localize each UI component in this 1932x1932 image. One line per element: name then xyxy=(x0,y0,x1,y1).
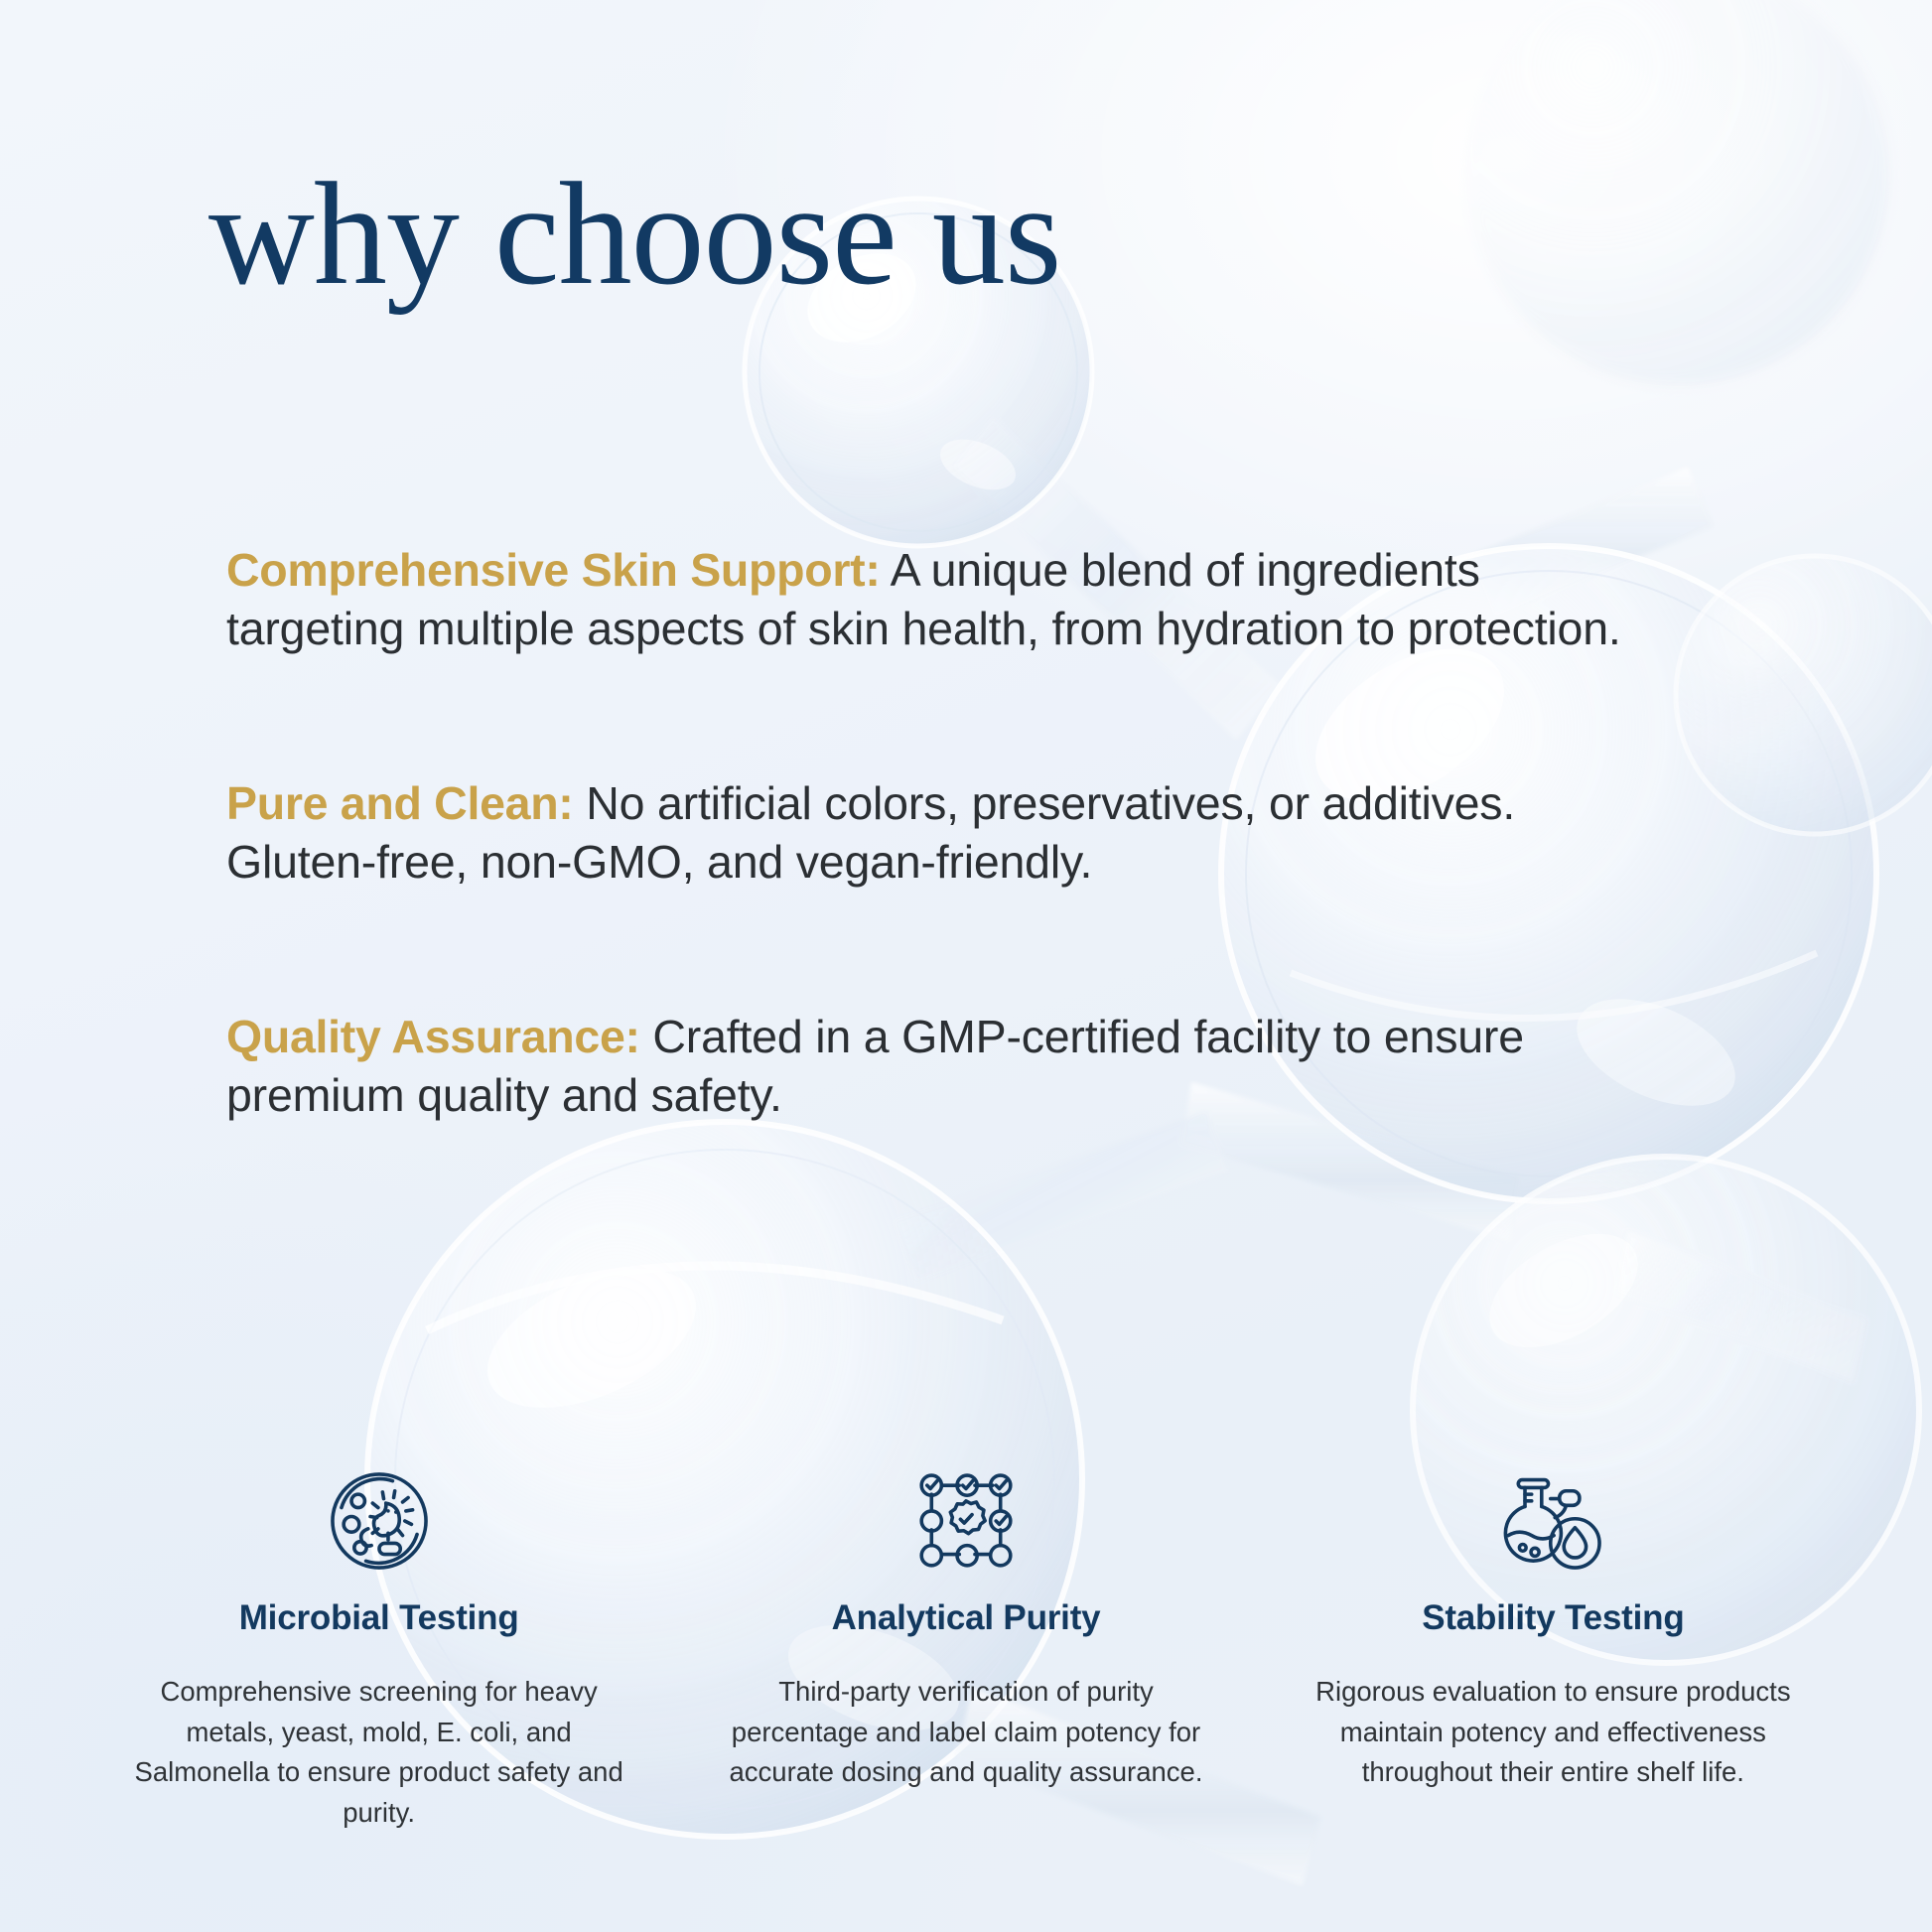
features-list: Comprehensive Skin Support: A unique ble… xyxy=(226,541,1626,1124)
badge-title: Stability Testing xyxy=(1422,1598,1684,1638)
certification-badges: Microbial Testing Comprehensive screenin… xyxy=(85,1465,1847,1833)
feature-item: Pure and Clean: No artificial colors, pr… xyxy=(226,774,1626,891)
page-content: why choose us Comprehensive Skin Support… xyxy=(0,0,1932,1932)
feature-lead: Quality Assurance: xyxy=(226,1011,640,1062)
badge-microbial-testing: Microbial Testing Comprehensive screenin… xyxy=(85,1465,672,1833)
page-title: why choose us xyxy=(208,161,1060,308)
feature-lead: Comprehensive Skin Support: xyxy=(226,544,881,596)
badge-description: Rigorous evaluation to ensure products m… xyxy=(1305,1672,1801,1792)
badge-description: Comprehensive screening for heavy metals… xyxy=(131,1672,627,1833)
feature-lead: Pure and Clean: xyxy=(226,777,574,829)
flask-droplet-magnifier-icon xyxy=(1497,1465,1608,1577)
feature-item: Comprehensive Skin Support: A unique ble… xyxy=(226,541,1626,657)
badge-analytical-purity: Analytical Purity Third-party verificati… xyxy=(672,1465,1259,1792)
feature-item: Quality Assurance: Crafted in a GMP-cert… xyxy=(226,1008,1626,1124)
badge-title: Microbial Testing xyxy=(239,1598,519,1638)
badge-description: Third-party verification of purity perce… xyxy=(718,1672,1214,1792)
badge-stability-testing: Stability Testing Rigorous evaluation to… xyxy=(1260,1465,1847,1792)
badge-title: Analytical Purity xyxy=(832,1598,1101,1638)
network-nodes-gear-check-icon xyxy=(910,1465,1022,1577)
petri-dish-microbe-icon xyxy=(324,1465,435,1577)
